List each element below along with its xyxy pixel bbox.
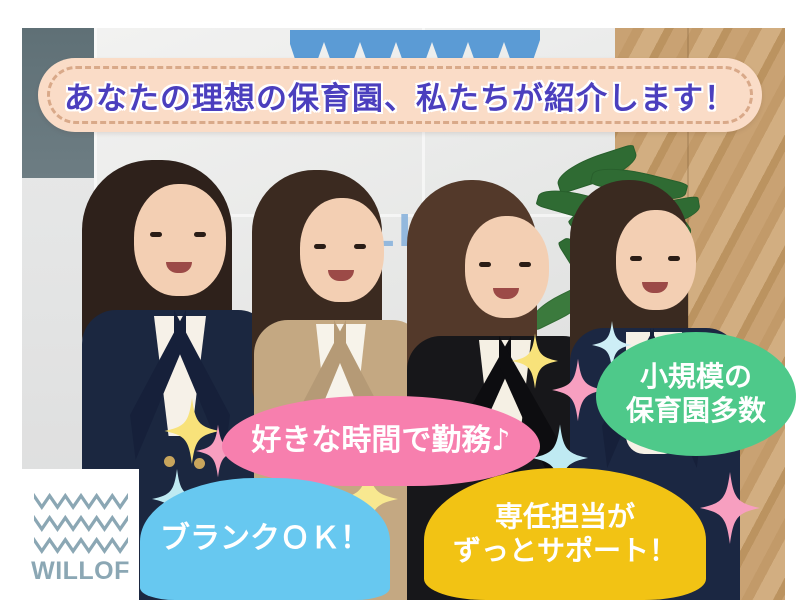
bubble-blank-ok-line1: ブランクＯＫ！ [160, 521, 370, 558]
photo-frame-top [0, 0, 800, 28]
headline-text: あなたの理想の保育園、私たちが紹介します！ [38, 58, 762, 132]
bubble-small-nursery: 小規模の 保育園多数 [596, 332, 796, 456]
logo-wordmark: WILLOF [22, 557, 139, 586]
bubble-blank-ok: ブランクＯＫ！ [140, 478, 390, 600]
bubble-flexible-hours: 好きな時間で勤務♪ [222, 396, 540, 486]
bubble-dedicated-support-line2: ずっとサポート！ [453, 534, 677, 568]
bubble-flexible-hours-line1: 好きな時間で勤務♪ [251, 423, 510, 460]
ad-banner-canvas: WILLOF [0, 0, 800, 600]
sparkle-pink-3-icon [700, 472, 760, 544]
headline-banner: あなたの理想の保育園、私たちが紹介します！ [38, 58, 762, 132]
photo-frame-right [785, 0, 800, 600]
logo-zigzag-row-2-icon [34, 513, 128, 532]
bubble-small-nursery-line2: 保育園多数 [626, 394, 766, 428]
bubble-small-nursery-line1: 小規模の [626, 360, 766, 394]
bubble-dedicated-support: 専任担当が ずっとサポート！ [424, 468, 706, 600]
willof-logo: WILLOF [22, 469, 139, 600]
logo-zigzag-row-1-icon [34, 491, 128, 510]
logo-zigzag-row-3-icon [34, 535, 128, 554]
photo-frame-left [0, 0, 22, 600]
bubble-dedicated-support-line1: 専任担当が [453, 500, 677, 534]
